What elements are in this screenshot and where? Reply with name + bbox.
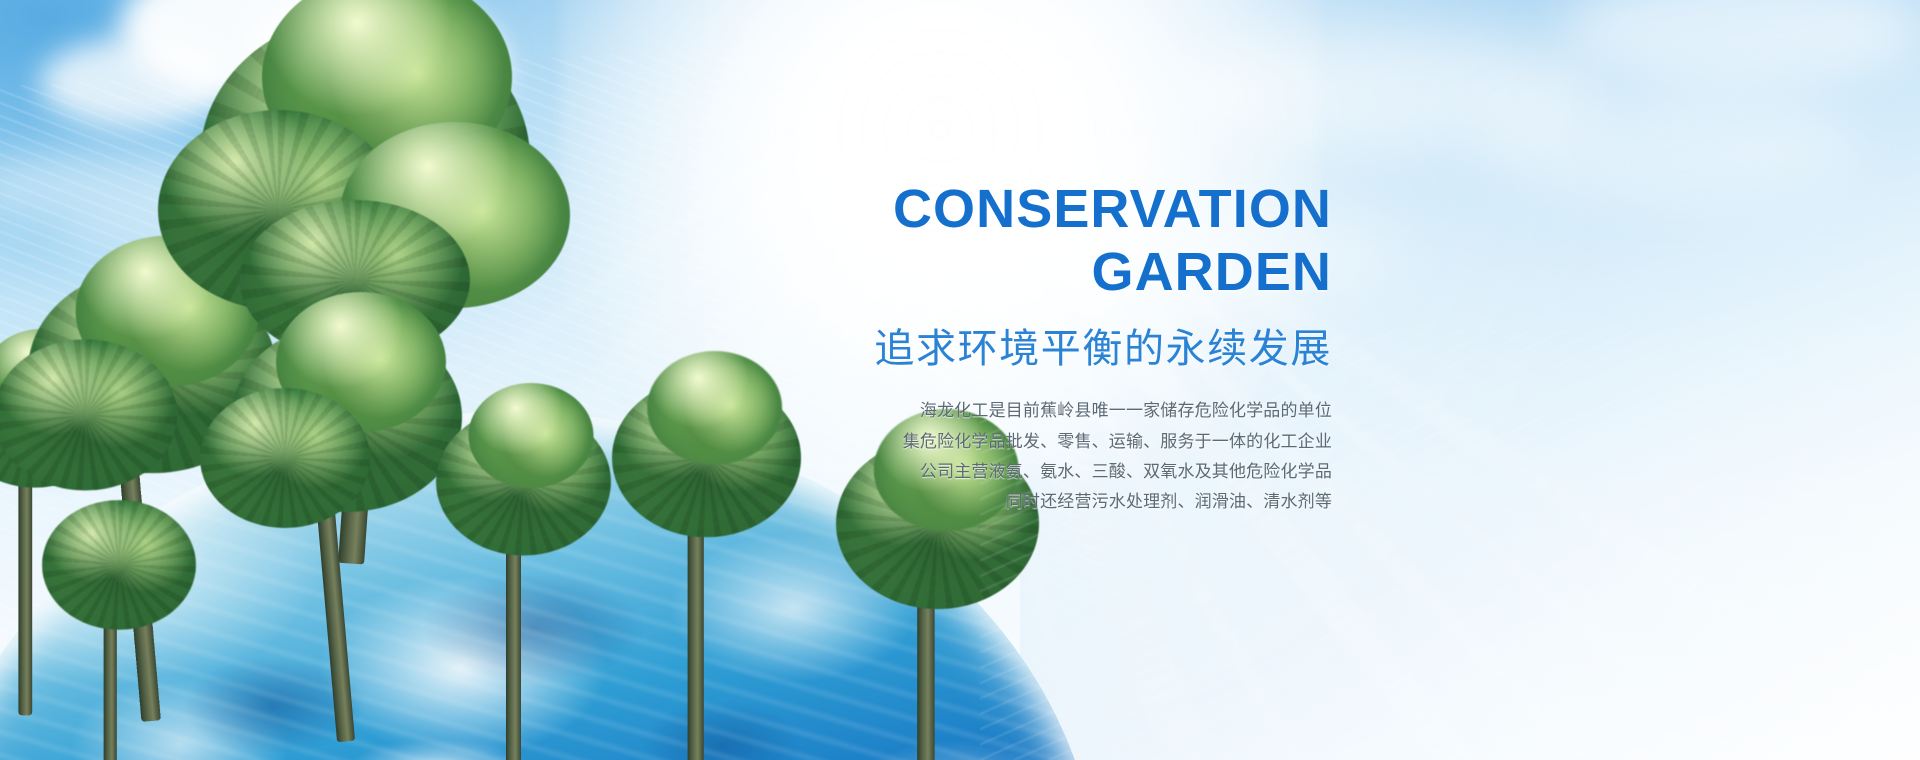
tree-trunk — [506, 528, 521, 760]
headline-line-2: GARDEN — [772, 241, 1332, 304]
tree-canopy — [200, 388, 370, 528]
tree-canopy — [647, 351, 782, 464]
description-block: 海龙化工是目前蕉岭县唯一一家储存危险化学品的单位 集危险化学品批发、零售、运输、… — [772, 396, 1332, 517]
description-line: 海龙化工是目前蕉岭县唯一一家储存危险化学品的单位 — [772, 396, 1332, 426]
headline-line-1: CONSERVATION — [893, 179, 1332, 239]
tree-trunk — [688, 508, 704, 760]
description-line: 同时还经营污水处理剂、润滑油、清水剂等 — [772, 487, 1332, 517]
tree-canopy — [0, 339, 177, 490]
tree-canopy — [42, 500, 196, 630]
description-line: 公司主营液氨、氨水、三酸、双氧水及其他危险化学品 — [772, 457, 1332, 487]
tagline: 追求环境平衡的永续发展 — [772, 324, 1332, 374]
page-title: CONSERVATION GARDEN — [772, 178, 1332, 304]
description-line: 集危险化学品批发、零售、运输、服务于一体的化工企业 — [772, 427, 1332, 457]
tree-trunk — [18, 462, 32, 715]
hero-banner: CONSERVATION GARDEN 追求环境平衡的永续发展 海龙化工是目前蕉… — [0, 0, 1920, 760]
tree-canopy — [469, 383, 594, 488]
banner-copy: CONSERVATION GARDEN 追求环境平衡的永续发展 海龙化工是目前蕉… — [772, 178, 1332, 517]
